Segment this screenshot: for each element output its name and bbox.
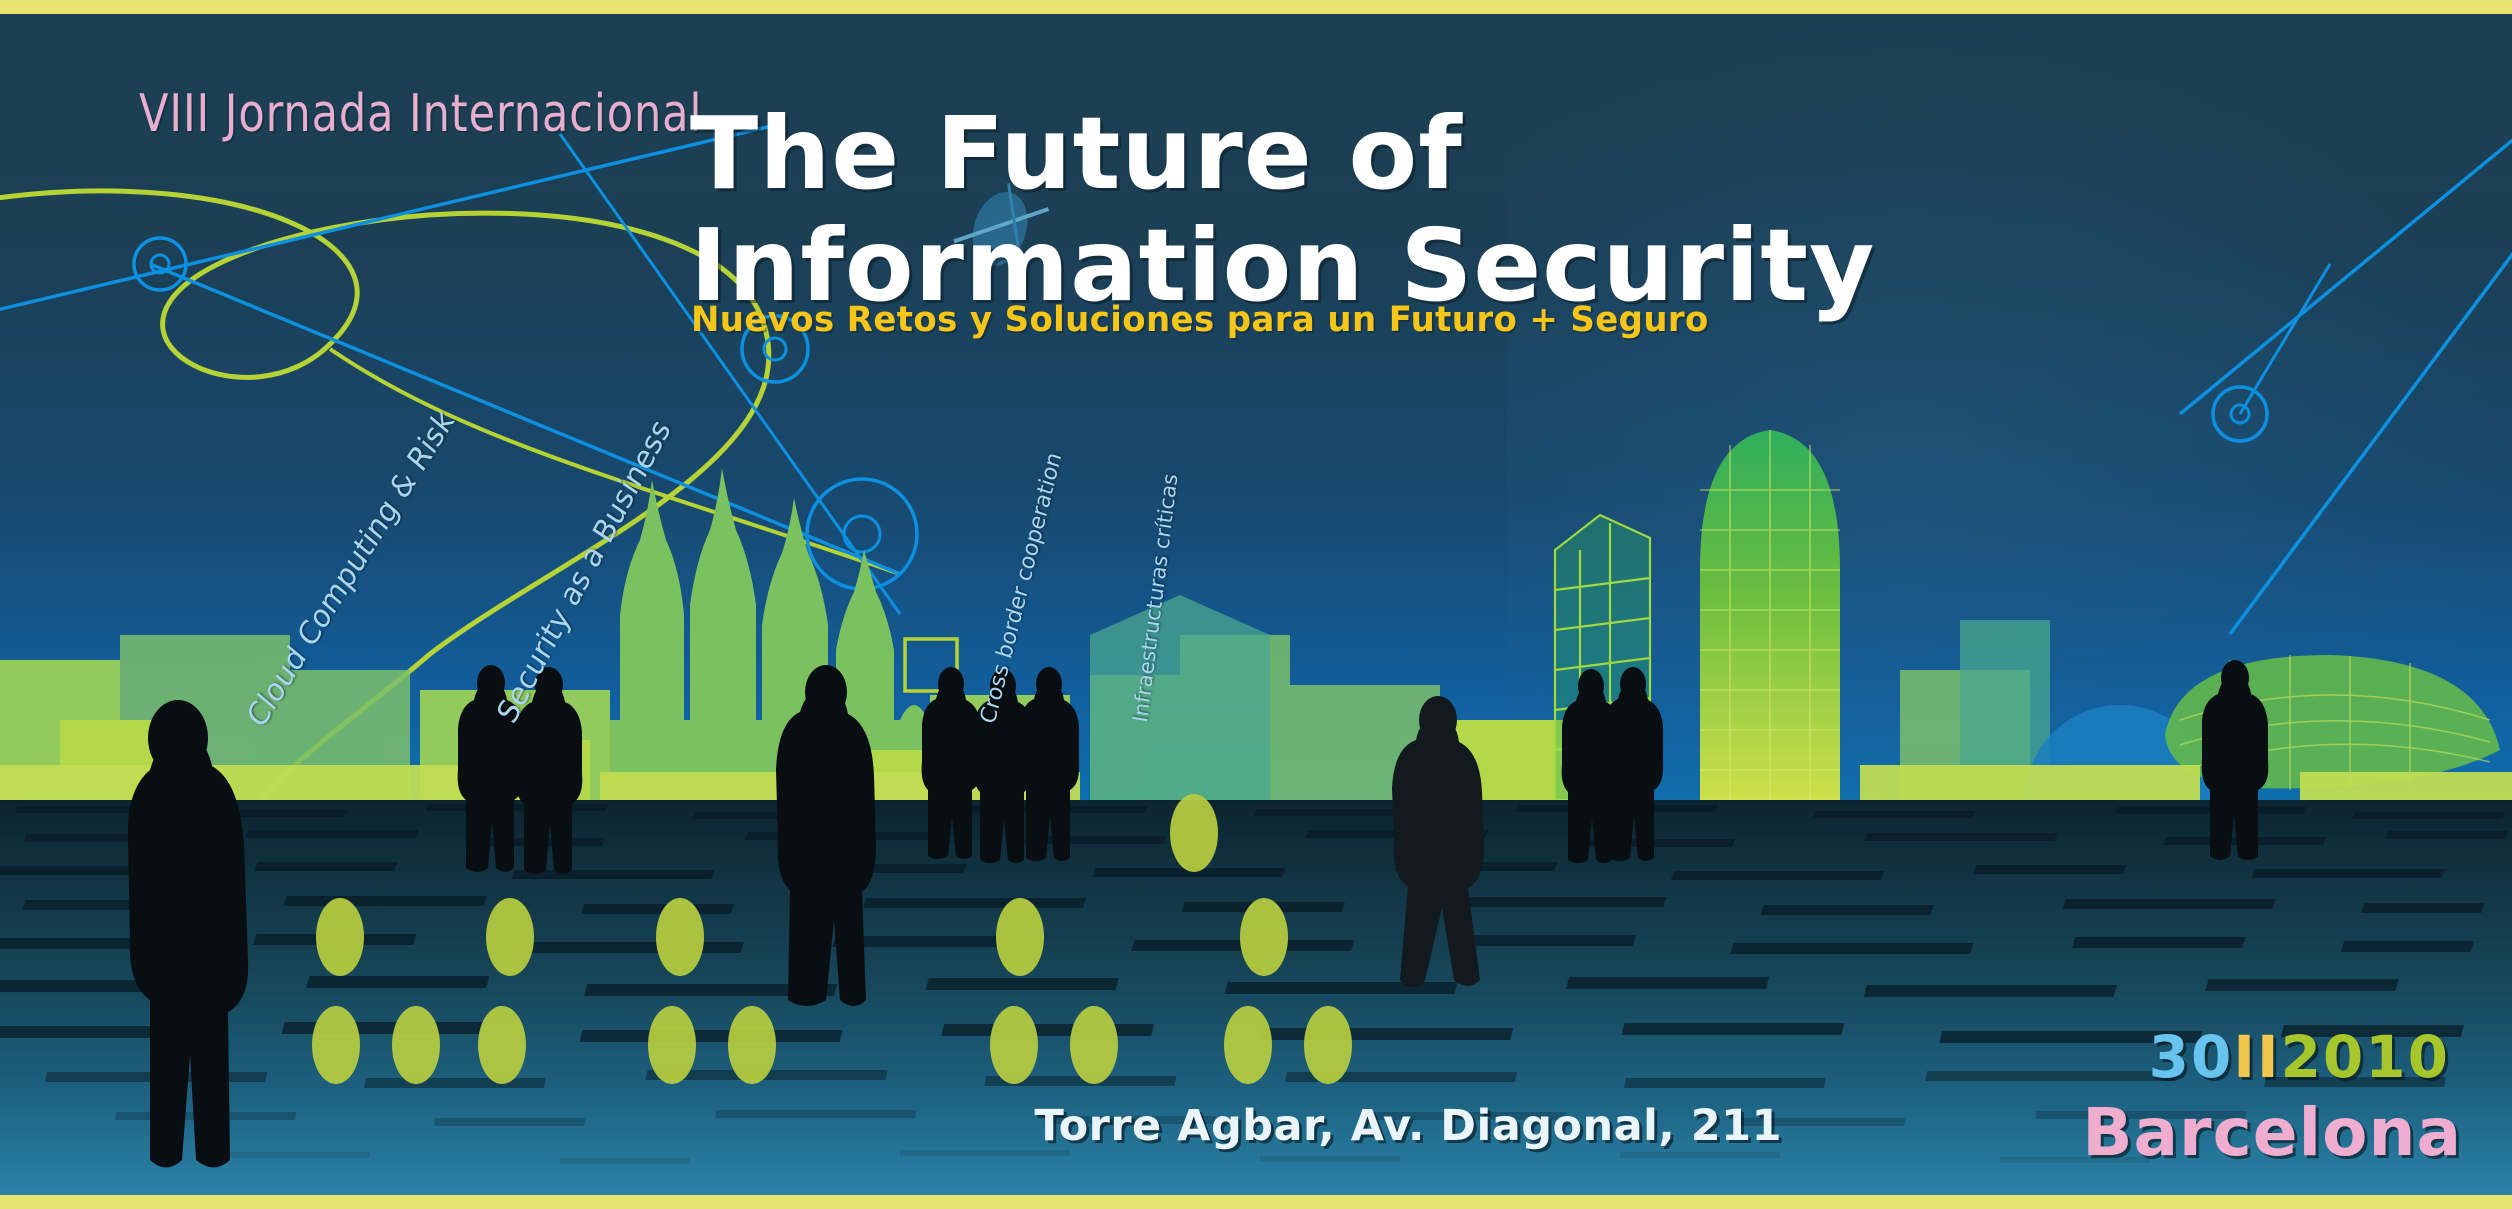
event-city: Barcelona — [2082, 1094, 2462, 1171]
frame-top-bar — [0, 0, 2512, 14]
braille-dot — [312, 1006, 360, 1084]
frame-bottom-bar — [0, 1195, 2512, 1209]
braille-dot — [1304, 1006, 1352, 1084]
venue-address: Torre Agbar, Av. Diagonal, 211 — [1034, 1101, 1782, 1151]
braille-dot — [990, 1006, 1038, 1084]
kicker-text: VIII Jornada Internacional — [139, 84, 702, 144]
date-year: 2010 — [2281, 1023, 2450, 1091]
braille-dot — [1240, 898, 1288, 976]
braille-dot — [1224, 1006, 1272, 1084]
date-month-separator: II — [2233, 1023, 2280, 1091]
braille-dot — [728, 1006, 776, 1084]
braille-dot — [996, 898, 1044, 976]
barcelona-skyline — [0, 420, 2512, 800]
date-day: 30 — [2149, 1023, 2234, 1091]
braille-dot — [316, 898, 364, 976]
title-line-1: The Future of — [690, 98, 1875, 210]
poster-title: The Future of Information Security — [690, 98, 1875, 322]
braille-dot — [486, 898, 534, 976]
poster-canvas: VIII Jornada Internacional The Future of… — [0, 0, 2512, 1209]
event-date: 30II2010 — [2149, 1023, 2450, 1091]
braille-dot — [1070, 1006, 1118, 1084]
poster-subtitle: Nuevos Retos y Soluciones para un Futuro… — [691, 300, 1709, 340]
braille-dot — [656, 898, 704, 976]
braille-dot — [478, 1006, 526, 1084]
braille-dot — [392, 1006, 440, 1084]
braille-dot — [648, 1006, 696, 1084]
braille-dot — [1170, 794, 1218, 872]
